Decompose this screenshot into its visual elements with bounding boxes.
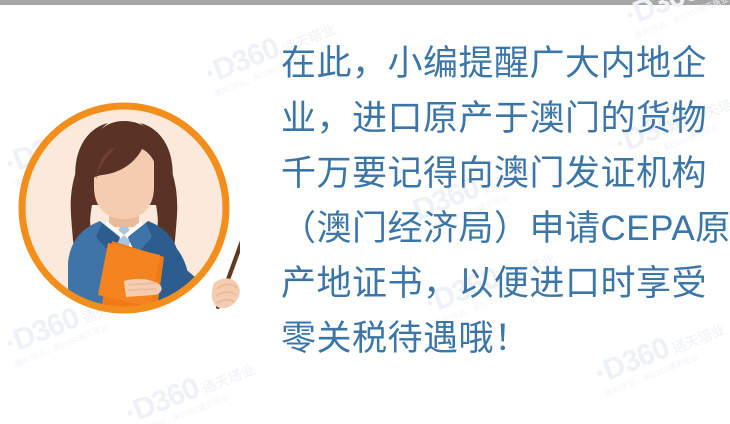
message-text-block: 在此，小编提醒广大内地企 业，进口原产于澳门的货物 千万要记得向澳门发证机构 （…	[281, 36, 727, 366]
text-line-5: 产地证书，以便进口时享受	[281, 256, 727, 311]
poster-canvas: ·D360通天塔业通关/货运，来D360通天塔业·D360通天塔业通关/货运，来…	[0, 0, 730, 424]
watermark-brand-text: 通天塔业	[200, 361, 258, 397]
text-line-2: 业，进口原产于澳门的货物	[281, 91, 727, 146]
text-line-4: （澳门经济局）申请CEPA原	[281, 201, 727, 256]
watermark-logo-text: ·D360	[200, 31, 283, 90]
text-line-1: 在此，小编提醒广大内地企	[281, 36, 727, 91]
watermark-sub-text: 通关/货运，来D360通天塔业	[132, 378, 263, 424]
businesswoman-illustration	[8, 95, 240, 327]
text-line-6: 零关税待遇哦！	[281, 311, 727, 366]
text-line-3: 千万要记得向澳门发证机构	[281, 146, 727, 201]
right-hand-grip-overlay	[212, 278, 240, 308]
watermark-logo: ·D360通天塔业通关/货运，来D360通天塔业	[120, 349, 263, 424]
top-gray-bar	[0, 0, 730, 5]
watermark-logo-text: ·D360	[120, 371, 203, 424]
